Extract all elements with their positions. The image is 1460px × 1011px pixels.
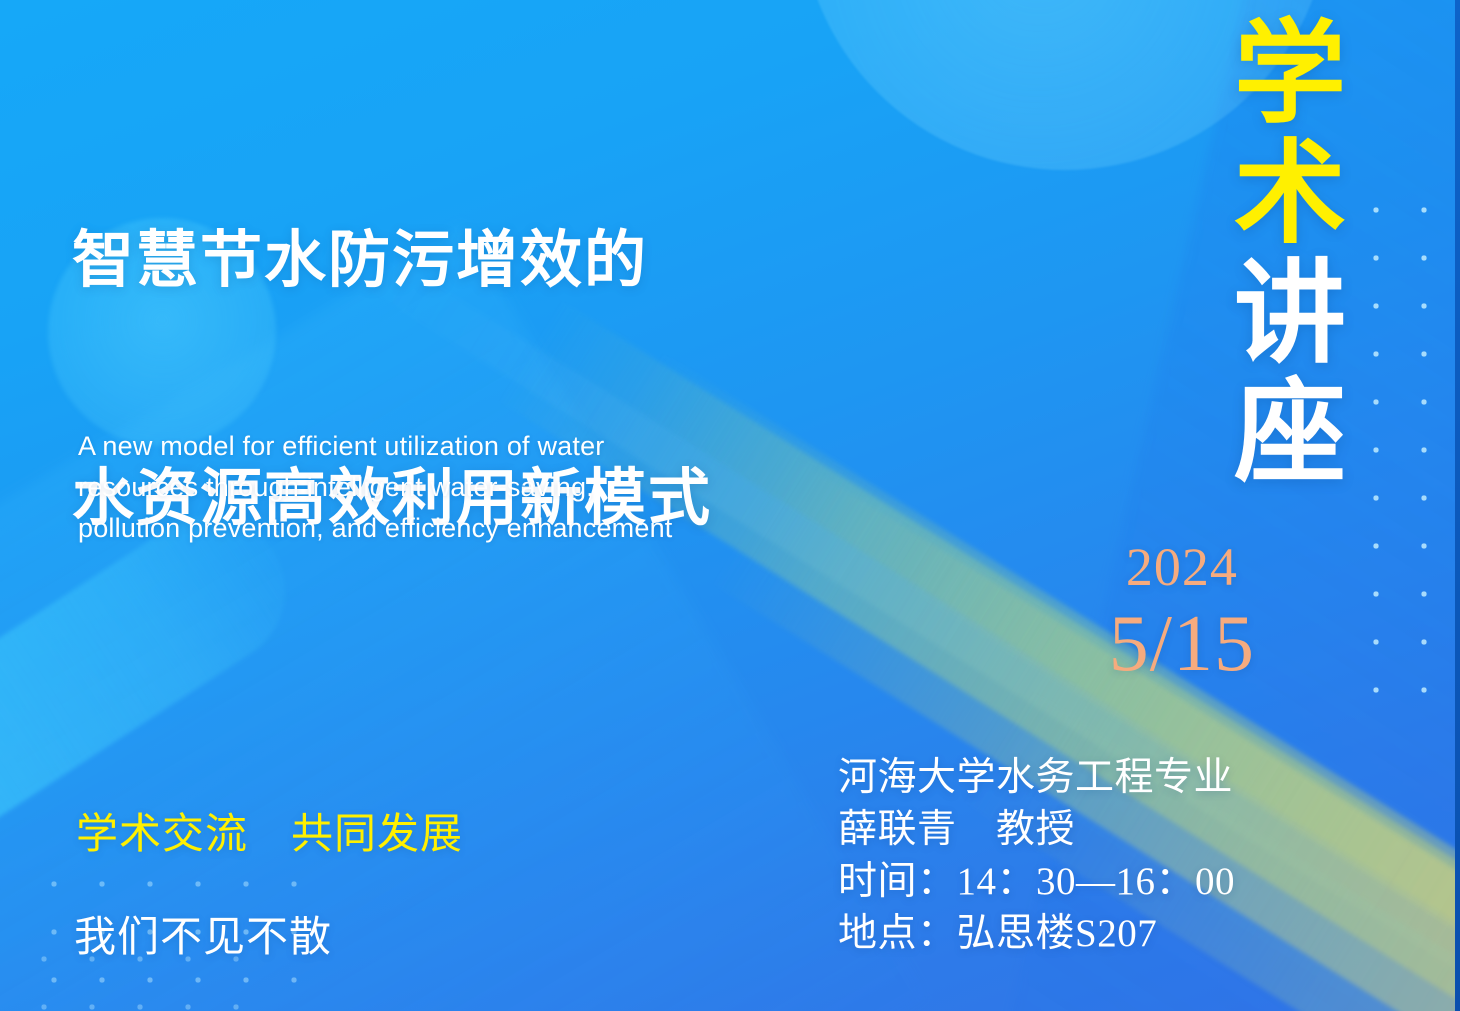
poster-subtitle-english: A new model for efficient utilization of… (78, 426, 673, 549)
subtitle-line-2: resources through intelligent water-savi… (78, 467, 673, 508)
slogan-secondary: 我们不见不散 (74, 903, 332, 964)
date-year: 2024 (1109, 540, 1255, 594)
subtitle-line-1: A new model for efficient utilization of… (78, 426, 673, 467)
event-date: 2024 5/15 (1109, 540, 1255, 690)
event-details: 河海大学水务工程专业 薛联青 教授 时间：14：30—16：00 地点：弘思楼S… (838, 752, 1235, 959)
vertical-heading-academic-lecture: 学 术 讲 座 (1226, 14, 1354, 493)
vertical-char-1: 学 (1226, 14, 1354, 134)
vertical-char-2: 术 (1226, 134, 1354, 254)
vertical-char-4: 座 (1226, 373, 1354, 493)
date-day: 5/15 (1109, 600, 1255, 690)
detail-time: 时间：14：30—16：00 (838, 856, 1235, 908)
subtitle-line-3: pollution prevention, and efficiency enh… (78, 508, 673, 549)
detail-affiliation: 河海大学水务工程专业 (838, 752, 1235, 804)
poster-title: 智慧节水防污增效的 水资源高效利用新模式 (72, 62, 712, 697)
vertical-char-3: 讲 (1226, 254, 1354, 374)
poster-content: 智慧节水防污增效的 水资源高效利用新模式 A new model for eff… (0, 0, 1460, 1011)
title-line-1: 智慧节水防污增效的 (72, 221, 712, 300)
detail-venue: 地点：弘思楼S207 (838, 908, 1235, 960)
detail-speaker: 薛联青 教授 (838, 804, 1235, 856)
seminar-poster: 智慧节水防污增效的 水资源高效利用新模式 A new model for eff… (0, 0, 1460, 1011)
slogan-primary: 学术交流 共同发展 (76, 800, 463, 861)
